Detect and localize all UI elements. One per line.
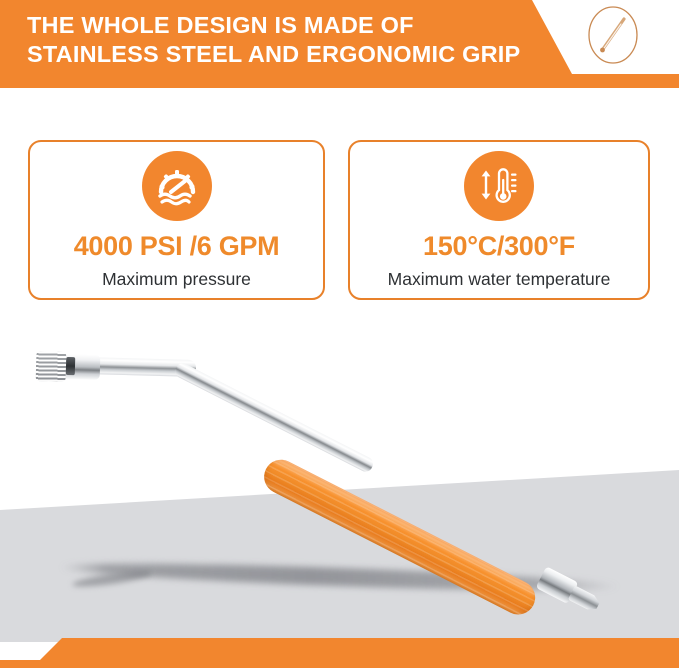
spec-label-temperature: Maximum water temperature xyxy=(388,269,611,290)
pressure-washer-lance-logo xyxy=(587,4,639,66)
thermometer-temperature-icon xyxy=(464,151,534,221)
grip-ridges xyxy=(258,454,541,620)
nozzle-knurled-head xyxy=(36,351,67,382)
spec-cards: 4000 PSI /6 GPM Maximum pressure 150°C/3… xyxy=(0,140,679,302)
nozzle-seal-band xyxy=(66,357,75,375)
spec-value-temperature: 150°C/300°F xyxy=(423,231,575,262)
page-title: THE WHOLE DESIGN IS MADE OF STAINLESS ST… xyxy=(27,11,527,69)
footer-orange-band xyxy=(0,638,679,668)
header-banner: THE WHOLE DESIGN IS MADE OF STAINLESS ST… xyxy=(0,0,679,88)
product-scene xyxy=(0,302,679,642)
spec-value-pressure: 4000 PSI /6 GPM xyxy=(74,231,280,262)
stainless-steel-lower-shaft xyxy=(173,361,376,474)
spec-label-pressure: Maximum pressure xyxy=(102,269,251,290)
pressure-washer-wand-photo xyxy=(36,346,636,596)
spec-card-temperature: 150°C/300°F Maximum water temperature xyxy=(348,140,650,300)
chrome-nozzle-tip xyxy=(36,351,99,382)
pressure-gauge-water-icon xyxy=(142,151,212,221)
orange-ergonomic-grip xyxy=(258,454,541,620)
spec-card-pressure: 4000 PSI /6 GPM Maximum pressure xyxy=(28,140,325,300)
